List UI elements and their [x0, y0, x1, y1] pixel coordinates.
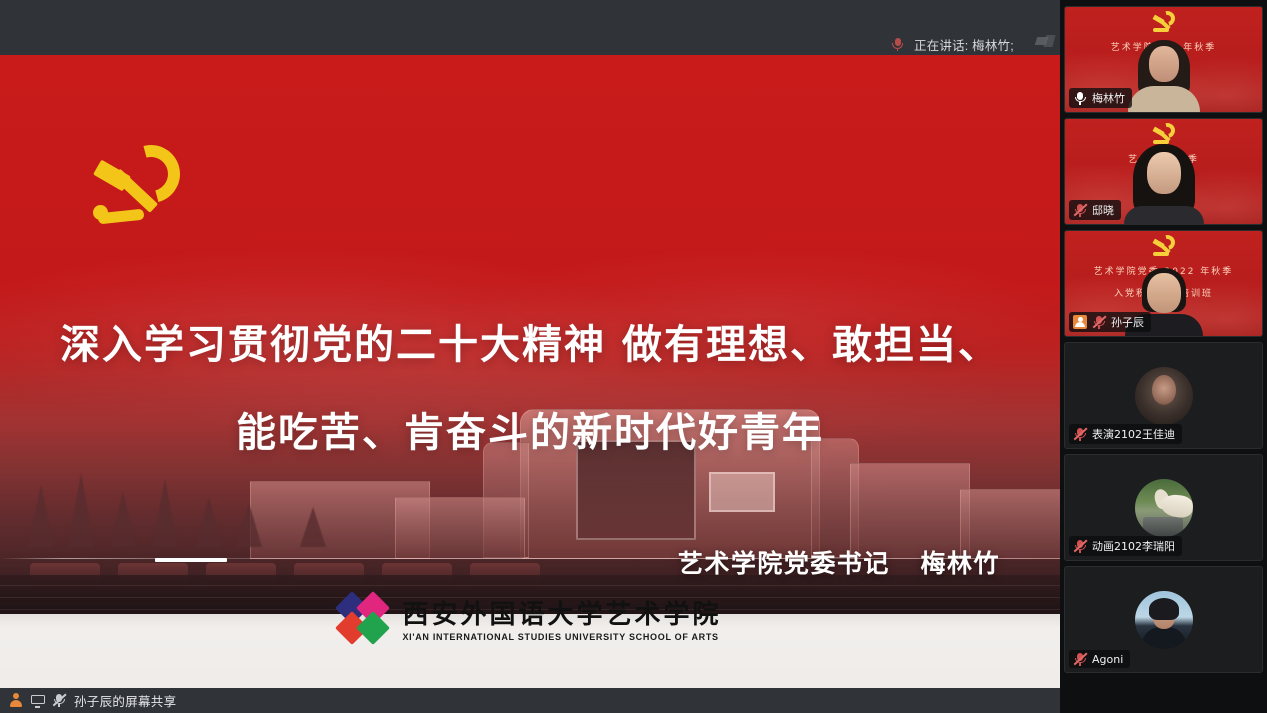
webcam-person	[1128, 40, 1200, 112]
divider-accent	[155, 558, 227, 562]
participant-icon	[8, 693, 23, 708]
share-overlay-icon[interactable]	[1034, 34, 1056, 54]
slide-title-line-1: 深入学习贯彻党的二十大精神 做有理想、敢担当、	[60, 322, 1000, 368]
participant-name: 表演2102王佳迪	[1092, 426, 1175, 442]
mic-off-icon	[1092, 315, 1106, 329]
participant-name-chip: Agoni	[1069, 650, 1130, 668]
participant-name-chip: 邸晓	[1069, 200, 1121, 220]
hammer-and-sickle-emblem	[92, 143, 188, 235]
university-logo: 西安外国语大学艺术学院 XI'AN INTERNATIONAL STUDIES …	[0, 594, 1060, 642]
avatar	[1135, 591, 1193, 649]
logo-english-name: XI'AN INTERNATIONAL STUDIES UNIVERSITY S…	[402, 632, 721, 642]
participant-tile[interactable]: 艺术学院党委 2022 年秋季 入党积极分子培训班 孙子辰	[1064, 230, 1263, 337]
participant-tile[interactable]: 艺术学院党 2 年秋季 入党积 班 梅林竹	[1064, 6, 1263, 113]
participant-tile[interactable]: 艺术学院党 季 入党积 邸晓	[1064, 118, 1263, 225]
participant-name-chip: 孙子辰	[1069, 312, 1151, 332]
participant-name-chip: 动画2102李瑞阳	[1069, 536, 1182, 556]
logo-diamond-icon	[338, 596, 390, 640]
slide-title-line-2: 能吃苦、肯奋斗的新时代好青年	[0, 389, 1060, 477]
presentation-slide: 深入学习贯彻党的二十大精神 做有理想、敢担当、 能吃苦、肯奋斗的新时代好青年 艺…	[0, 55, 1060, 688]
mic-off-icon	[1073, 652, 1087, 666]
screen-share-icon	[1073, 315, 1087, 329]
participant-name: Agoni	[1092, 653, 1123, 666]
participant-rail[interactable]: 艺术学院党 2 年秋季 入党积 班 梅林竹 艺术学院党 季 入党积	[1060, 0, 1267, 713]
status-bar: 孙子辰的屏幕共享	[0, 688, 1060, 713]
presenter-credit: 艺术学院党委书记 梅林竹	[678, 544, 1000, 580]
presenter-name: 梅林竹	[920, 549, 1000, 578]
hammer-and-sickle-emblem	[1151, 234, 1177, 258]
participant-name: 孙子辰	[1111, 314, 1144, 330]
mic-off-icon	[1073, 539, 1087, 553]
mic-off-icon	[1073, 427, 1087, 441]
screen-share-status-label: 孙子辰的屏幕共享	[74, 691, 176, 710]
participant-tile[interactable]: Agoni	[1064, 566, 1263, 673]
participant-name: 动画2102李瑞阳	[1092, 538, 1175, 554]
mic-off-icon	[52, 693, 67, 708]
participant-tile[interactable]: 表演2102王佳迪	[1064, 342, 1263, 449]
screen-icon	[30, 693, 45, 708]
active-speaker-label: 正在讲话: 梅林竹;	[914, 35, 1014, 54]
participant-name-chip: 表演2102王佳迪	[1069, 424, 1182, 444]
mic-off-icon	[1073, 203, 1087, 217]
avatar	[1135, 479, 1193, 537]
presenter-role: 艺术学院党委书记	[678, 549, 890, 578]
mic-on-icon	[1073, 91, 1087, 105]
participant-tile[interactable]: 动画2102李瑞阳	[1064, 454, 1263, 561]
shared-screen-stage[interactable]: 深入学习贯彻党的二十大精神 做有理想、敢担当、 能吃苦、肯奋斗的新时代好青年 艺…	[0, 55, 1060, 688]
avatar	[1135, 367, 1193, 425]
participant-name: 邸晓	[1092, 202, 1114, 218]
hammer-and-sickle-emblem	[1151, 10, 1177, 34]
webcam-person	[1124, 140, 1204, 224]
mic-speaking-icon	[890, 37, 905, 52]
participant-name: 梅林竹	[1092, 90, 1125, 106]
active-speaker-indicator: 正在讲话: 梅林竹;	[890, 33, 1014, 55]
slide-title: 深入学习贯彻党的二十大精神 做有理想、敢担当、 能吃苦、肯奋斗的新时代好青年	[0, 301, 1060, 477]
logo-chinese-name: 西安外国语大学艺术学院	[402, 594, 721, 631]
participant-name-chip: 梅林竹	[1069, 88, 1132, 108]
meeting-window: 正在讲话: 梅林竹;	[0, 0, 1267, 713]
